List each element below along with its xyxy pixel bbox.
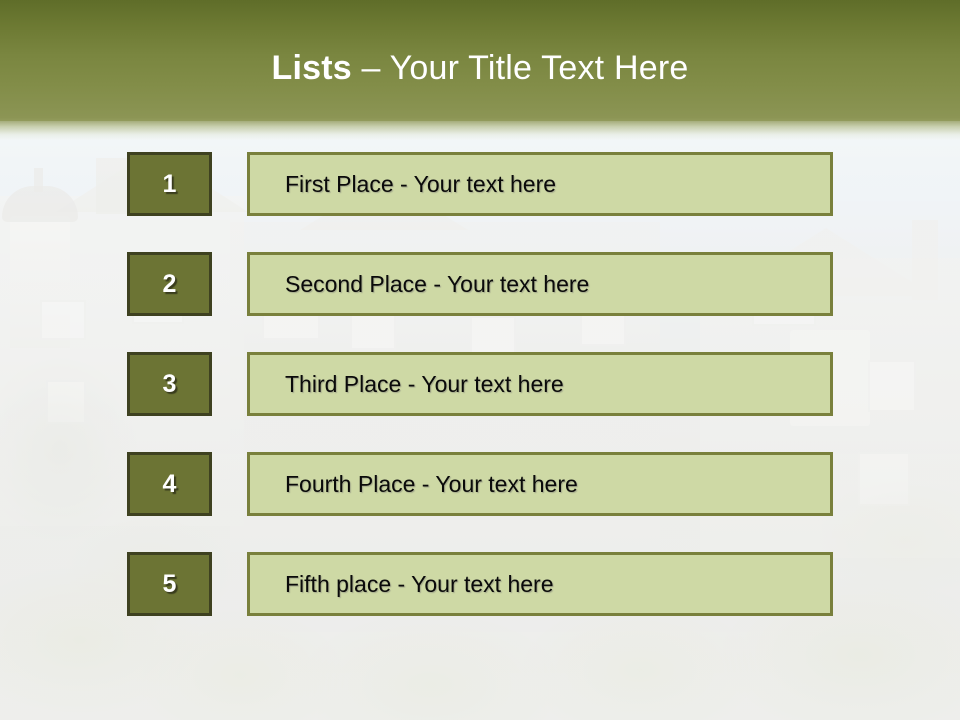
slide-canvas: Lists – Your Title Text Here 1 First Pla… [0,0,960,720]
list-item-text-box[interactable]: First Place - Your text here [247,152,833,216]
list-item-text-box[interactable]: Fifth place - Your text here [247,552,833,616]
list-item-text: Fourth Place - Your text here [250,471,578,497]
list-container: 1 First Place - Your text here 2 Second … [0,0,960,720]
list-item[interactable]: 5 Fifth place - Your text here [127,552,833,616]
list-item-text: Third Place - Your text here [250,371,564,397]
list-item[interactable]: 2 Second Place - Your text here [127,252,833,316]
list-item-number: 3 [163,372,177,397]
list-item-text-box[interactable]: Second Place - Your text here [247,252,833,316]
list-item-text-box[interactable]: Third Place - Your text here [247,352,833,416]
list-item-text: First Place - Your text here [250,171,556,197]
list-item[interactable]: 4 Fourth Place - Your text here [127,452,833,516]
list-item[interactable]: 3 Third Place - Your text here [127,352,833,416]
list-item-number-badge[interactable]: 5 [127,552,212,616]
list-item-text: Second Place - Your text here [250,271,589,297]
list-item-number-badge[interactable]: 2 [127,252,212,316]
list-item-number: 4 [163,472,177,497]
list-item-number-badge[interactable]: 3 [127,352,212,416]
list-item-number: 5 [163,572,177,597]
list-item-number-badge[interactable]: 4 [127,452,212,516]
list-item-number: 1 [163,172,177,197]
list-item-number: 2 [163,272,177,297]
list-item-text: Fifth place - Your text here [250,571,554,597]
list-item-text-box[interactable]: Fourth Place - Your text here [247,452,833,516]
list-item[interactable]: 1 First Place - Your text here [127,152,833,216]
list-item-number-badge[interactable]: 1 [127,152,212,216]
